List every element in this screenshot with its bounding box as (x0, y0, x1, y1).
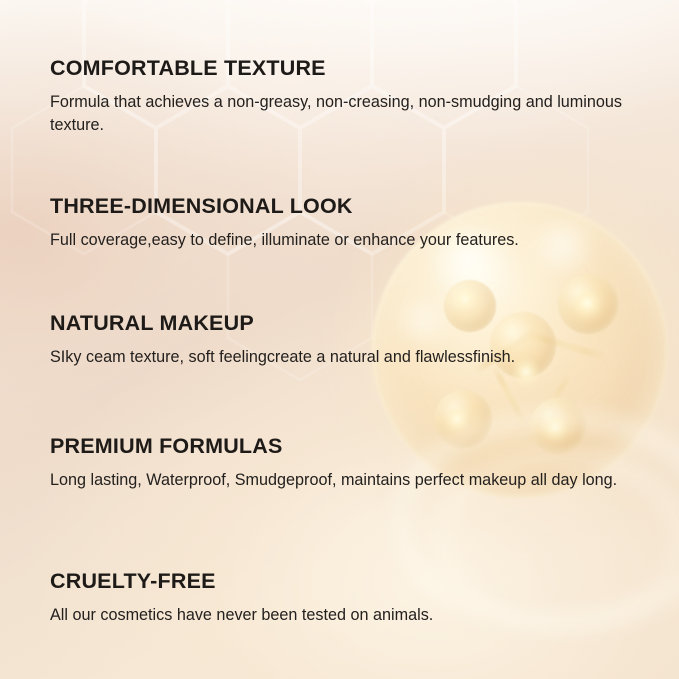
feature-block-premium-formulas: PREMIUM FORMULAS Long lasting, Waterproo… (50, 435, 650, 492)
feature-title: CRUELTY-FREE (50, 570, 650, 593)
feature-title: PREMIUM FORMULAS (50, 435, 650, 458)
feature-title: NATURAL MAKEUP (50, 312, 650, 335)
feature-list: COMFORTABLE TEXTURE Formula that achieve… (0, 0, 679, 679)
feature-title: THREE-DIMENSIONAL LOOK (50, 195, 650, 218)
feature-description: Formula that achieves a non-greasy, non-… (50, 91, 640, 138)
feature-description: Full coverage,easy to define, illuminate… (50, 229, 640, 252)
feature-description: All our cosmetics have never been tested… (50, 604, 640, 627)
feature-description: SIky ceam texture, soft feelingcreate a … (50, 346, 640, 369)
product-feature-poster: COMFORTABLE TEXTURE Formula that achieve… (0, 0, 679, 679)
feature-block-cruelty-free: CRUELTY-FREE All our cosmetics have neve… (50, 570, 650, 627)
feature-description: Long lasting, Waterproof, Smudgeproof, m… (50, 469, 640, 492)
feature-block-comfortable-texture: COMFORTABLE TEXTURE Formula that achieve… (50, 57, 650, 137)
feature-title: COMFORTABLE TEXTURE (50, 57, 650, 80)
feature-block-three-dimensional-look: THREE-DIMENSIONAL LOOK Full coverage,eas… (50, 195, 650, 252)
feature-block-natural-makeup: NATURAL MAKEUP SIky ceam texture, soft f… (50, 312, 650, 369)
